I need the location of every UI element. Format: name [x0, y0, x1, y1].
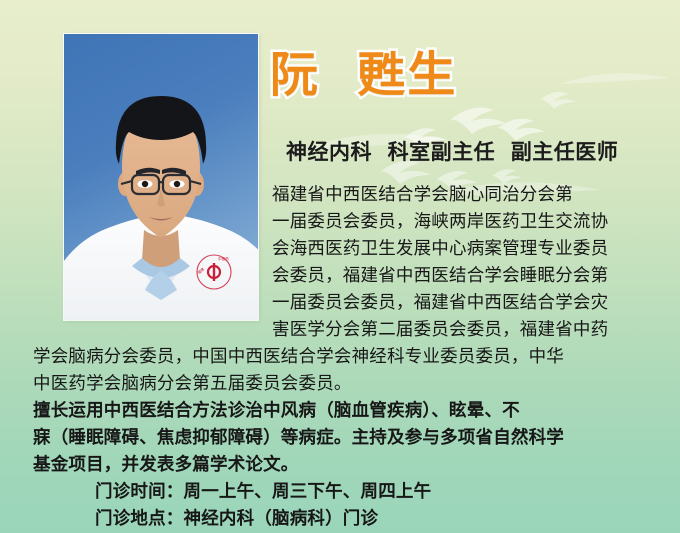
- clinic-info: 门诊时间：周一上午、周三下午、周四上午 门诊地点：神经内科（脑病科）门诊: [0, 479, 680, 533]
- bio-line: 会委员，福建省中西医结合学会睡眠分会第: [0, 263, 680, 290]
- bio-line: 学会脑病分会委员，中国中西医结合学会神经科专业委员委员，中华: [0, 344, 680, 371]
- doctor-profile-poster: 福建 中医药 阮 甦生 神经内科 科室副主任 副主任医师 福建省中西医结合学会脑…: [0, 0, 680, 533]
- appointments-paragraph: 福建省中西医结合学会脑心同治分会第 一届委员会委员，海峡两岸医药卫生交流协 会海…: [0, 182, 680, 398]
- doctor-name: 阮 甦生: [270, 51, 457, 99]
- bio-line: 一届委员会委员，海峡两岸医药卫生交流协: [0, 209, 680, 236]
- clinic-location: 门诊地点：神经内科（脑病科）门诊: [0, 506, 680, 533]
- bio-line: 一届委员会委员，福建省中西医结合学会灾: [0, 290, 680, 317]
- doctor-name-row: 阮 甦生: [270, 40, 670, 110]
- bio-line: 擅长运用中西医结合方法诊治中风病（脑血管疾病）、眩晕、不: [0, 398, 680, 425]
- bio-line: 中医药学会脑病分会第五届委员会委员。: [0, 371, 680, 398]
- bio-line: 寐（睡眠障碍、焦虑抑郁障碍）等病症。主持及参与多项省自然科学: [0, 425, 680, 452]
- specialty-paragraph: 擅长运用中西医结合方法诊治中风病（脑血管疾病）、眩晕、不 寐（睡眠障碍、焦虑抑郁…: [0, 398, 680, 479]
- bio-line: 会海西医药卫生发展中心病案管理专业委员: [0, 236, 680, 263]
- bio-line: 害医学分会第二届委员会委员，福建省中药: [0, 317, 680, 344]
- doctor-titles: 神经内科 科室副主任 副主任医师: [286, 136, 618, 166]
- clinic-hours: 门诊时间：周一上午、周三下午、周四上午: [0, 479, 680, 506]
- bio-line: 福建省中西医结合学会脑心同治分会第: [0, 182, 680, 209]
- doctor-bio: 福建省中西医结合学会脑心同治分会第 一届委员会委员，海峡两岸医药卫生交流协 会海…: [0, 182, 680, 533]
- bio-line: 基金项目，并发表多篇学术论文。: [0, 452, 680, 479]
